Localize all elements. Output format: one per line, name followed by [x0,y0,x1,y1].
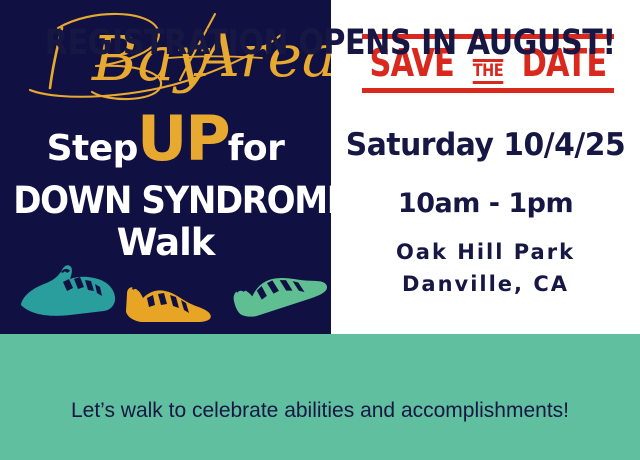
sneaker-mint-icon [228,250,328,323]
registration-subtitle: Let’s walk to celebrate abilities and ac… [0,400,640,421]
headline-word-for: for [228,128,285,169]
sneaker-teal-icon [18,258,118,329]
cause-line: DOWN SYNDROME [13,182,318,219]
step-up-for-headline: StepUPfor [0,108,331,170]
event-flyer: Bay Area Bay Area StepUPfor DOWN SYNDROM… [0,0,640,460]
headline-word-step: Step [47,128,138,169]
stamp-rule-bottom [362,88,614,93]
event-city-state: Danville, CA [331,274,640,295]
sneaker-illustration-row [0,248,331,334]
sneaker-gold-icon [123,278,213,333]
registration-headline: REGISTRATION OPENS IN AUGUST! [45,26,595,61]
event-time: 10am - 1pm [331,190,640,217]
event-venue: Oak Hill Park [331,242,640,263]
stamp-word-the: THE [473,60,504,83]
registration-banner [0,334,640,460]
event-date: Saturday 10/4/25 [337,130,634,161]
headline-word-up: UP [137,102,229,175]
